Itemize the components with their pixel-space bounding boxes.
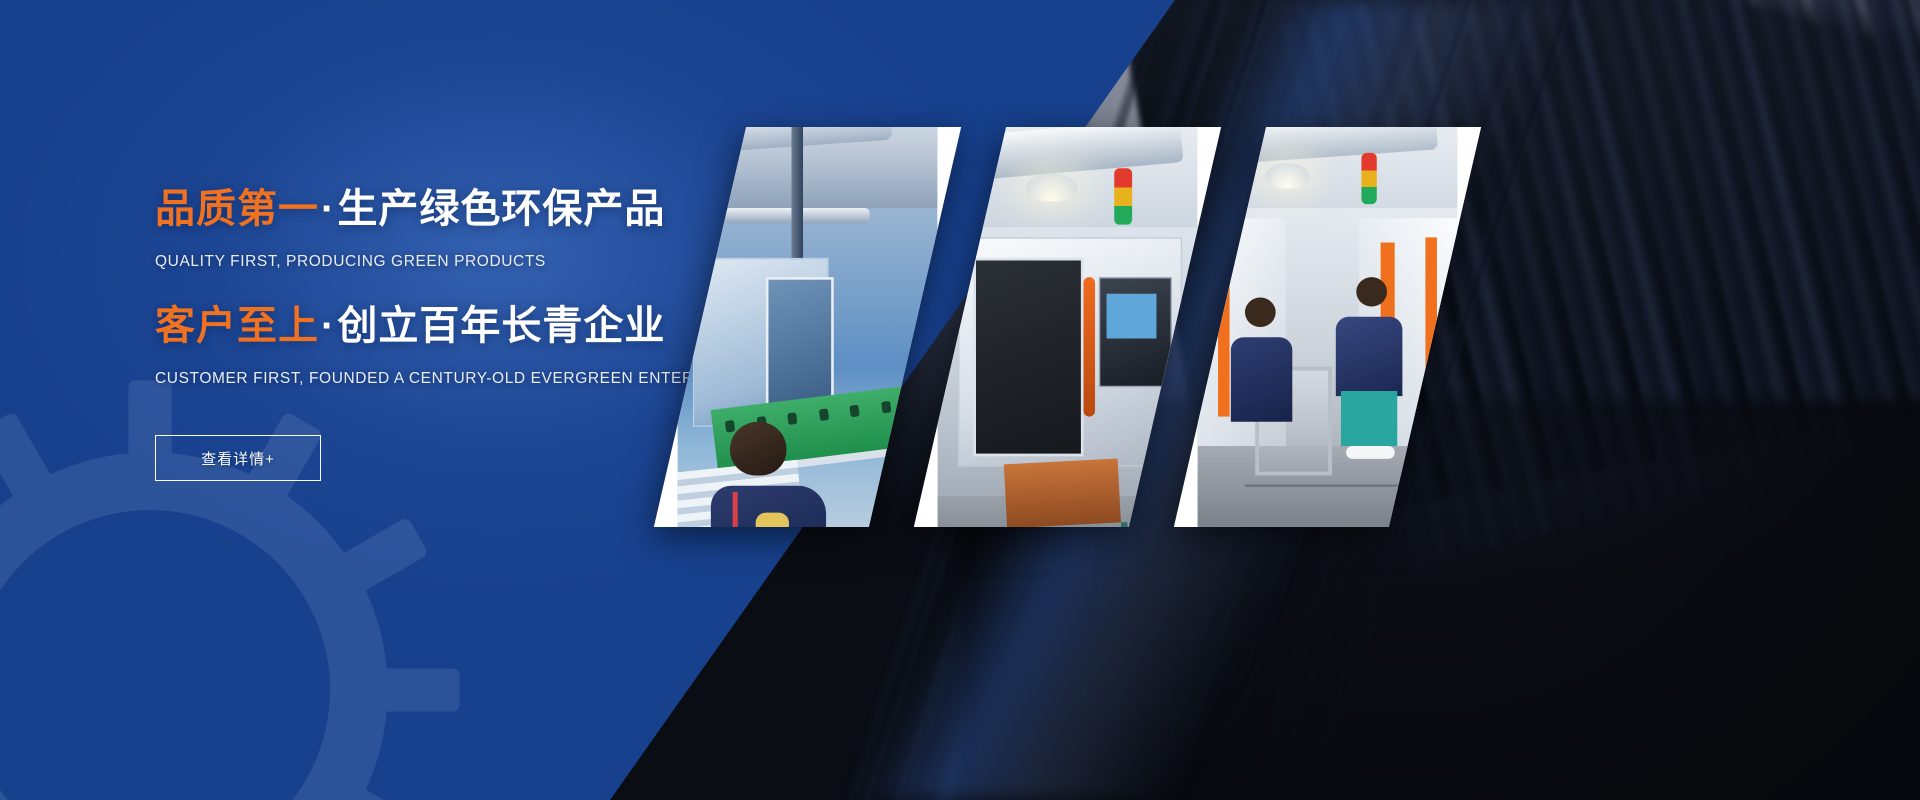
photo-panel-production-aisle[interactable] xyxy=(1174,127,1481,527)
photo-image-production-aisle xyxy=(1198,127,1458,527)
photo-panel-injection-molding-line[interactable] xyxy=(654,127,961,527)
hero-banner: 品质第一·生产绿色环保产品 QUALITY FIRST, PRODUCING G… xyxy=(0,0,1920,800)
photo-frame xyxy=(678,127,938,527)
photo-image-injection-molding-line xyxy=(678,127,938,527)
photo-panel-cnc-machining-center[interactable] xyxy=(914,127,1221,527)
photo-frame xyxy=(938,127,1198,527)
photo-panel-group xyxy=(0,0,1920,800)
photo-frame xyxy=(1198,127,1458,527)
photo-image-cnc-machining-center xyxy=(938,127,1198,527)
